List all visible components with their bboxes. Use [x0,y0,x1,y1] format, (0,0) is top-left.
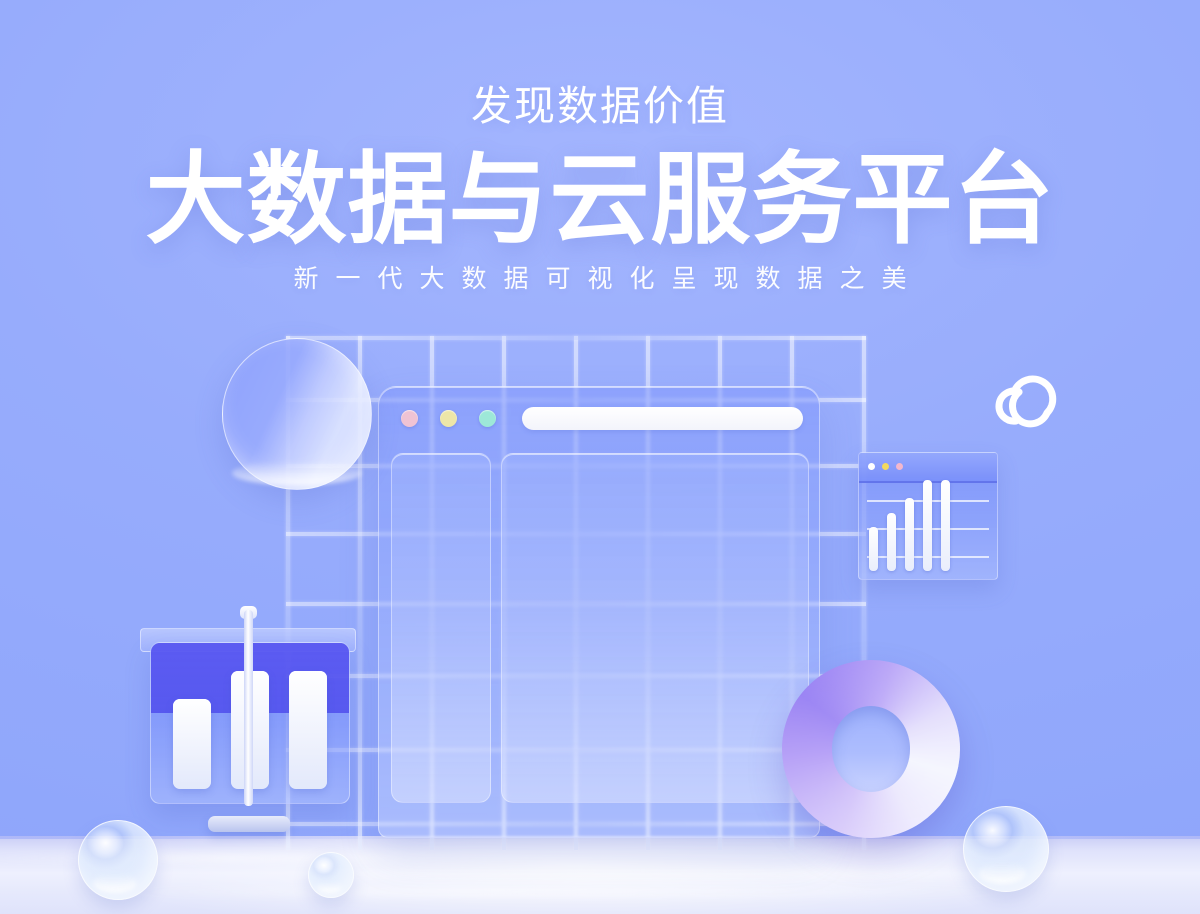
close-dot[interactable] [868,463,875,470]
mini-bar [905,498,914,571]
cloud-icon [978,362,1074,444]
mini-bar [887,513,896,571]
minimize-dot[interactable] [882,463,889,470]
content-pane[interactable] [501,453,809,803]
maximize-dot[interactable] [896,463,903,470]
mini-bar-series [869,480,989,571]
lattice-hline [286,336,866,340]
maximize-dot[interactable] [479,410,496,427]
address-bar-input[interactable] [522,407,803,430]
floor-reflection-streak [312,870,1056,878]
page-title: 大数据与云服务平台 [0,149,1200,251]
browser-title-bar [379,387,819,449]
stand-base [208,816,290,832]
mini-analytics-window[interactable] [858,452,998,580]
main-browser-mockup[interactable] [378,386,820,838]
sidebar-pane[interactable] [391,453,491,803]
subtitle-text: 新一代大数据可视化呈现数据之美 [0,267,1200,292]
kiosk-bar [289,671,327,789]
mini-bar [923,480,932,571]
bar-chart-kiosk[interactable] [132,628,362,858]
mini-chart-body [859,476,997,579]
kiosk-bar [173,699,211,789]
close-dot[interactable] [401,410,418,427]
minimize-dot[interactable] [440,410,457,427]
glass-sphere-right [963,806,1049,892]
eyebrow-text: 发现数据价值 [0,86,1200,127]
mini-bar [869,527,878,571]
glass-disc [222,338,372,490]
hero-banner: 发现数据价值 大数据与云服务平台 新一代大数据可视化呈现数据之美 [0,0,1200,914]
mini-bar [941,480,950,571]
glass-sphere-left [78,820,158,900]
headline-block: 发现数据价值 大数据与云服务平台 新一代大数据可视化呈现数据之美 [0,86,1200,292]
floor-reflection-streak [96,888,1056,896]
stand-pole [244,610,253,806]
glass-sphere-mid [308,852,354,898]
donut-ring [782,660,960,838]
